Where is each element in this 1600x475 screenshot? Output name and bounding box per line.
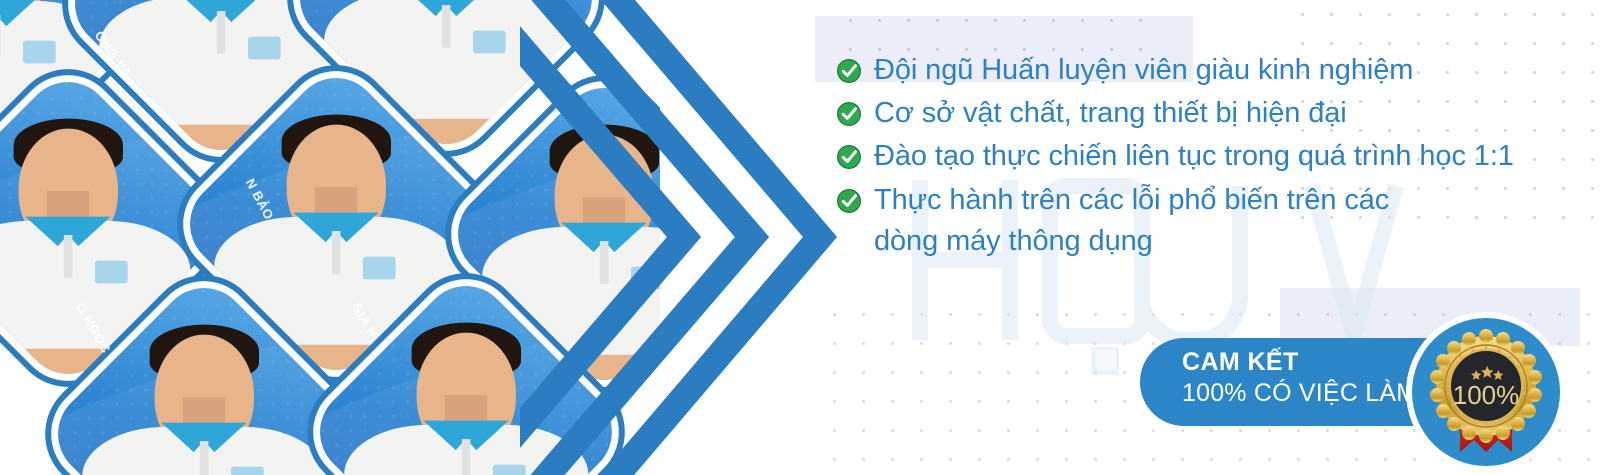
promo-banner: ONG VA — [0, 0, 1600, 475]
trainer-photo-collage: ONG VA — [0, 0, 660, 475]
award-seal-icon: 100% — [1424, 328, 1548, 456]
seal-value: 100% — [1453, 380, 1520, 410]
check-circle-icon — [836, 188, 862, 214]
list-item: Thực hành trên các lỗi phổ biến trên các… — [836, 180, 1576, 262]
benefit-text: Thực hành trên các lỗi phổ biến trên các… — [874, 180, 1414, 262]
benefit-text: Đào tạo thực chiến liên tục trong quá tr… — [874, 136, 1514, 177]
award-seal: 100% — [1412, 318, 1560, 466]
list-item: Đội ngũ Huấn luyện viên giàu kinh nghiệm — [836, 50, 1576, 91]
check-circle-icon — [836, 144, 862, 170]
benefit-list: Đội ngũ Huấn luyện viên giàu kinh nghiệm… — [836, 50, 1576, 264]
check-circle-icon — [836, 58, 862, 84]
benefit-text: Cơ sở vật chất, trang thiết bị hiện đại — [874, 93, 1347, 134]
check-circle-icon — [836, 101, 862, 127]
benefits-panel: Đội ngũ Huấn luyện viên giàu kinh nghiệm… — [660, 0, 1600, 475]
list-item: Đào tạo thực chiến liên tục trong quá tr… — [836, 136, 1576, 177]
list-item: Cơ sở vật chất, trang thiết bị hiện đại — [836, 93, 1576, 134]
benefit-text: Đội ngũ Huấn luyện viên giàu kinh nghiệm — [874, 50, 1413, 91]
